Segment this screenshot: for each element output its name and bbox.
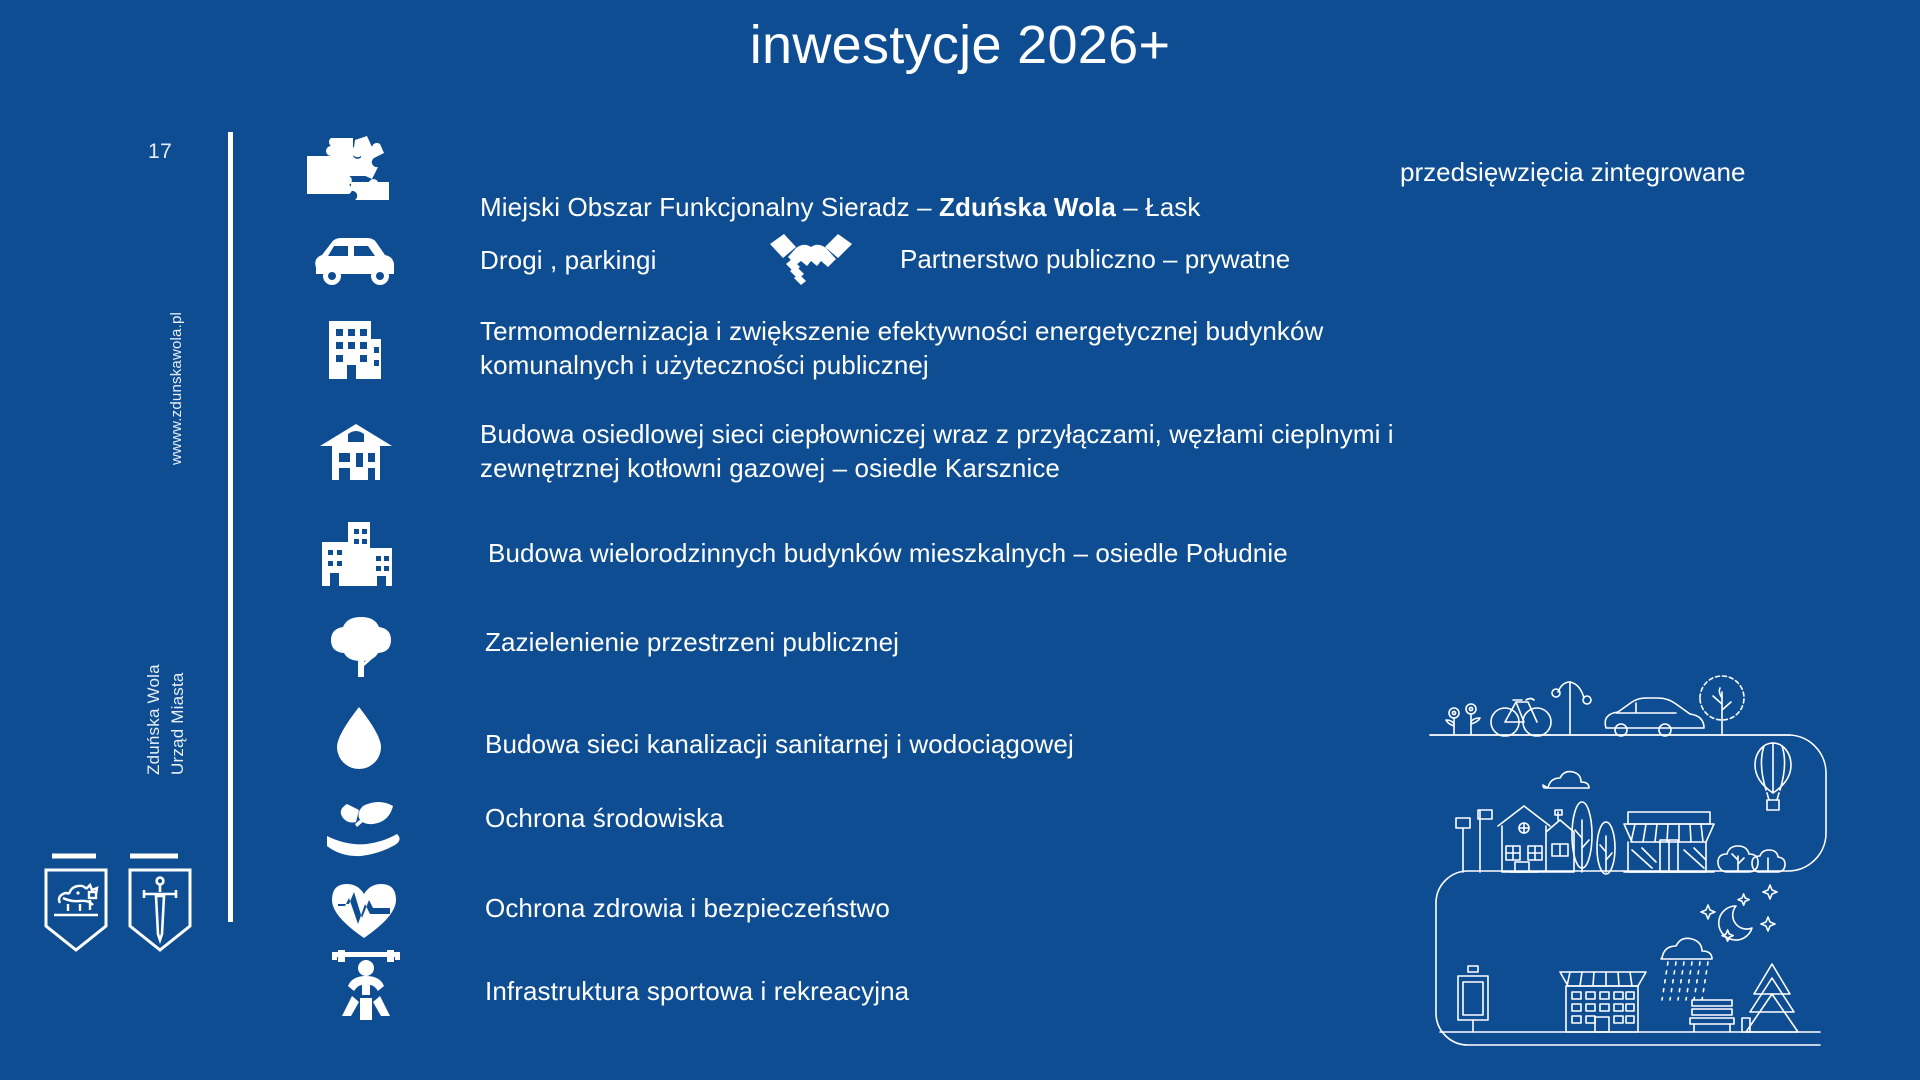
city-buildings-icon (320, 520, 394, 586)
item-text-4: Budowa wielorodzinnych budynków mieszkal… (488, 537, 1488, 571)
flowers-icon (1446, 704, 1480, 734)
item-extra-1: Partnerstwo publiczno – prywatne (900, 244, 1290, 275)
water-drop-icon (335, 705, 383, 771)
bushes-icon (1718, 846, 1785, 872)
car-icon (310, 232, 398, 288)
slide-root: inwestycje 2026+ 17 wwww.zdunskawola.pl … (0, 0, 1920, 1080)
billboard-small-icon (1456, 810, 1492, 872)
puzzle-pieces-icon (305, 136, 391, 202)
apartment-block-icon (1560, 972, 1646, 1032)
item-text-9: Infrastruktura sportowa i rekreacyjna (485, 975, 909, 1009)
handshake-icon (768, 228, 854, 286)
item-text-2: Termomodernizacja i zwiększenie efektywn… (480, 315, 1580, 383)
item-text-7: Ochrona środowiska (485, 802, 724, 836)
rain-cloud-icon (1661, 938, 1712, 1000)
item-text-0-pre: Miejski Obszar Funkcjonalny Sieradz – (480, 192, 939, 222)
round-tree-icon (1700, 676, 1744, 735)
house-illustration-icon (1498, 806, 1574, 872)
item-text-0: Miejski Obszar Funkcjonalny Sieradz – Zd… (480, 157, 1400, 225)
item-text-3: Budowa osiedlowej sieci ciepłowniczej wr… (480, 418, 1640, 486)
weightlifter-icon (330, 950, 402, 1022)
leaf-in-hand-icon (325, 800, 401, 856)
bicycle-icon (1491, 699, 1551, 737)
tree-icon (325, 615, 397, 677)
house-icon (318, 420, 394, 482)
billboard-icon (1458, 966, 1488, 1032)
hot-air-balloon-icon (1755, 743, 1791, 810)
item-text-0-bold: Zduńska Wola (939, 192, 1116, 222)
item-text-0-post: – Łask (1116, 192, 1201, 222)
pine-tree-icon (1746, 964, 1798, 1032)
car-illustration-icon (1605, 698, 1704, 736)
moon-and-stars-icon (1701, 885, 1777, 941)
office-building-icon (325, 315, 385, 379)
item-extra-0: przedsięwzięcia zintegrowane (1400, 157, 1745, 188)
shop-with-awning-icon (1624, 812, 1714, 872)
item-text-1: Drogi , parkingi (480, 244, 656, 278)
item-text-8: Ochrona zdrowia i bezpieczeństwo (485, 892, 890, 926)
heart-pulse-icon (330, 880, 398, 940)
poplar-trees-icon (1572, 802, 1615, 874)
cloud-icon (1543, 772, 1589, 788)
bench-icon (1690, 1000, 1750, 1032)
item-text-5: Zazielenienie przestrzeni publicznej (485, 626, 899, 660)
street-lamp-icon (1552, 682, 1591, 735)
city-line-art-illustration (1420, 660, 1900, 1040)
item-text-6: Budowa sieci kanalizacji sanitarnej i wo… (485, 728, 1074, 762)
